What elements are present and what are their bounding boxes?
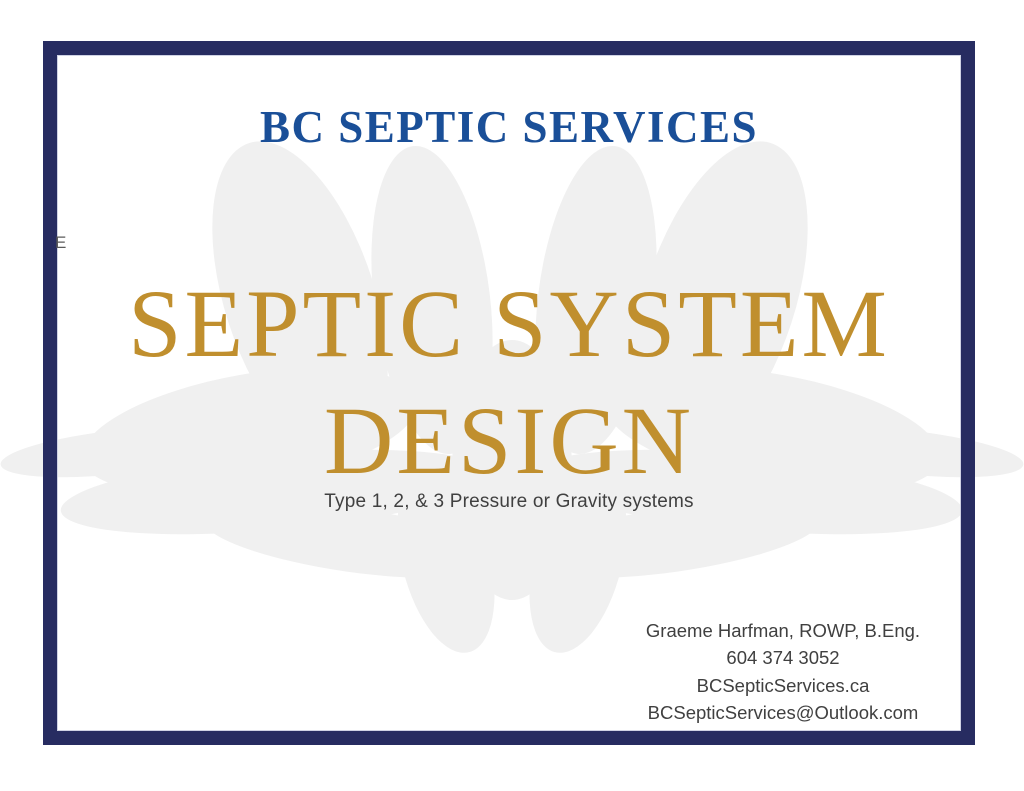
contact-phone: 604 374 3052: [573, 644, 993, 671]
contact-website: BCSepticServices.ca: [573, 672, 993, 699]
page-title-line-2: DESIGN: [57, 382, 961, 499]
contact-block: Graeme Harfman, ROWP, B.Eng. 604 374 305…: [573, 617, 993, 727]
page-title-line-1: SEPTIC SYSTEM: [57, 265, 961, 382]
page-title: SEPTIC SYSTEM DESIGN: [57, 265, 961, 499]
slide-content: BC SEPTIC SERVICES SEPTIC SYSTEM DESIGN …: [57, 55, 961, 731]
page-subtitle: Type 1, 2, & 3 Pressure or Gravity syste…: [57, 491, 961, 513]
contact-email: BCSepticServices@Outlook.com: [573, 699, 993, 726]
contact-name: Graeme Harfman, ROWP, B.Eng.: [573, 617, 993, 644]
title-slide: E BC SEPTIC SERVICES SEPTIC SYSTEM DESIG…: [0, 0, 1024, 791]
organization-name: BC SEPTIC SERVICES: [57, 105, 961, 150]
